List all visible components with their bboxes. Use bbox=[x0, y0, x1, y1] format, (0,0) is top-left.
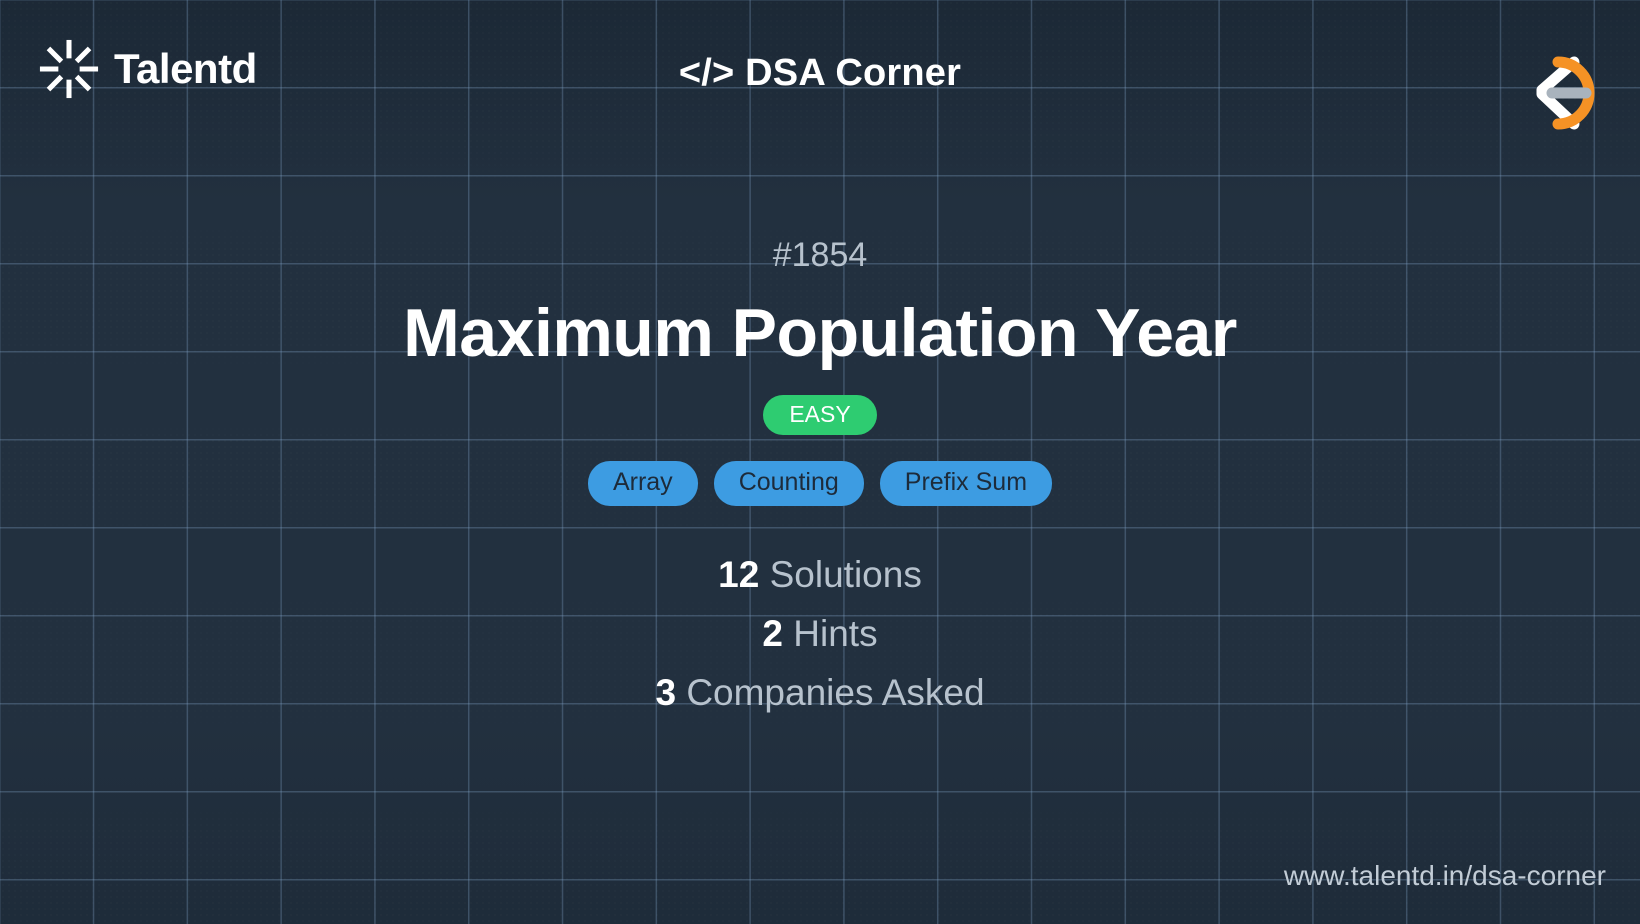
stat-value: 3 bbox=[655, 672, 676, 713]
stat-value: 2 bbox=[762, 613, 783, 654]
stat-row: 3 Companies Asked bbox=[655, 674, 984, 711]
dsa-corner-poster: Talentd </> DSA Corner #1854 Maximum Pop… bbox=[0, 0, 1640, 924]
page-title: </> DSA Corner bbox=[0, 52, 1640, 95]
poster-header: Talentd </> DSA Corner bbox=[0, 0, 1640, 155]
problem-title: Maximum Population Year bbox=[403, 298, 1237, 369]
tag-list: Array Counting Prefix Sum bbox=[588, 461, 1052, 506]
tag-pill[interactable]: Counting bbox=[714, 461, 864, 506]
stats-list: 12 Solutions 2 Hints 3 Companies Asked bbox=[655, 556, 984, 711]
problem-number: #1854 bbox=[773, 238, 868, 272]
stat-row: 12 Solutions bbox=[718, 556, 922, 593]
chevron-c-bracket-logo-icon bbox=[1528, 22, 1624, 118]
stat-value: 12 bbox=[718, 554, 759, 595]
stat-label: Hints bbox=[793, 613, 877, 654]
stat-label: Solutions bbox=[770, 554, 922, 595]
tag-pill[interactable]: Array bbox=[588, 461, 698, 506]
footer-url[interactable]: www.talentd.in/dsa-corner bbox=[1284, 862, 1606, 890]
stat-label: Companies Asked bbox=[686, 672, 984, 713]
stat-row: 2 Hints bbox=[762, 615, 877, 652]
tag-pill[interactable]: Prefix Sum bbox=[880, 461, 1052, 506]
difficulty-badge: EASY bbox=[763, 395, 876, 435]
